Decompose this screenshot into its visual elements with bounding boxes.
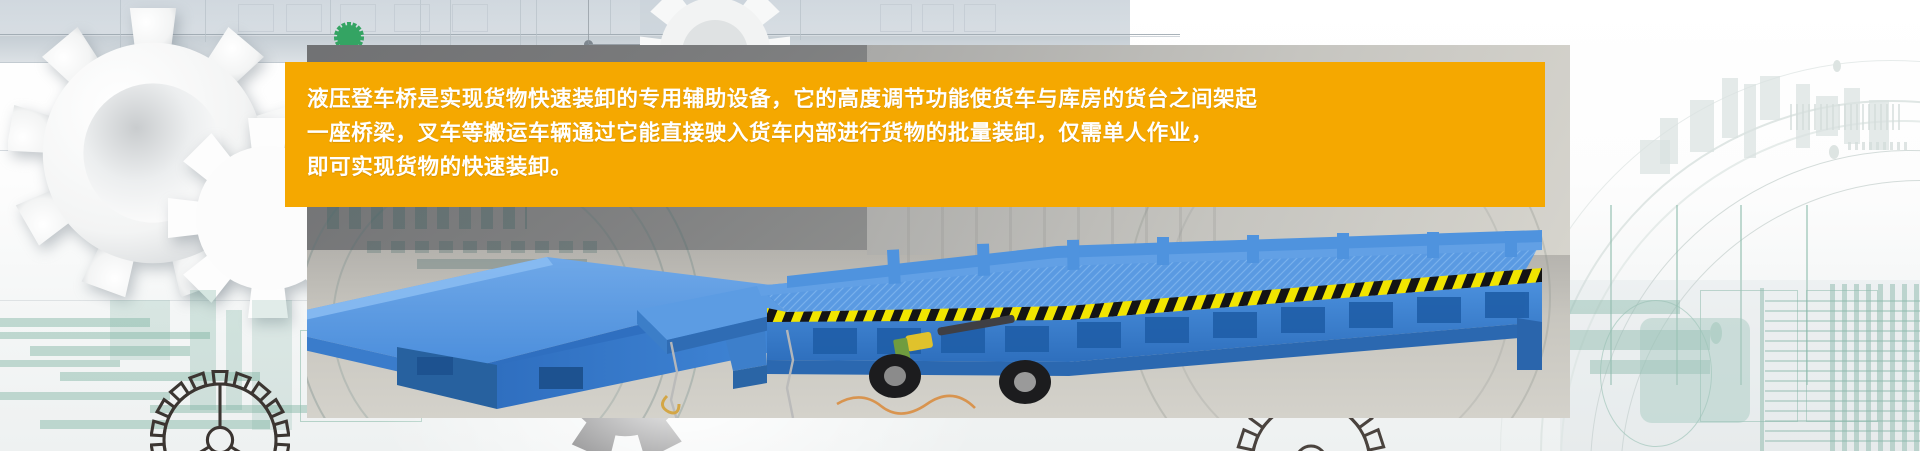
arc-dashes bbox=[1848, 142, 1908, 150]
ramp-wheel bbox=[999, 360, 1051, 404]
background-box bbox=[922, 4, 954, 32]
hydraulic-hose bbox=[837, 396, 975, 414]
background-connector bbox=[588, 0, 589, 44]
yard-ramp-graphic bbox=[637, 190, 1570, 418]
description-text: 液压登车桥是实现货物快速装卸的专用辅助设备，它的高度调节功能使货车与库房的货台之… bbox=[307, 82, 1517, 184]
ramp-wheel bbox=[869, 354, 921, 398]
description-callout: 液压登车桥是实现货物快速装卸的专用辅助设备，它的高度调节功能使货车与库房的货台之… bbox=[285, 62, 1545, 207]
product-banner: 液压登车桥是实现货物快速装卸的专用辅助设备，它的高度调节功能使货车与库房的货台之… bbox=[0, 0, 1920, 451]
background-vrule bbox=[610, 0, 611, 34]
background-vrule bbox=[800, 0, 801, 40]
description-line-3: 即可实现货物的快速装卸。 bbox=[307, 150, 1517, 184]
gear-icon bbox=[150, 370, 290, 451]
background-vrule bbox=[330, 0, 331, 34]
arc-node bbox=[1833, 60, 1841, 72]
arc-node bbox=[1829, 145, 1839, 159]
background-box bbox=[452, 4, 488, 32]
outline-gear bbox=[150, 370, 290, 451]
arc-comb bbox=[1790, 104, 1900, 130]
background-box bbox=[964, 4, 996, 32]
background-box bbox=[880, 4, 912, 32]
description-line-2: 一座桥梁，叉车等搬运车辆通过它能直接驶入货车内部进行货物的批量装卸，仅需单人作业… bbox=[307, 116, 1517, 150]
description-line-1: 液压登车桥是实现货物快速装卸的专用辅助设备，它的高度调节功能使货车与库房的货台之… bbox=[307, 82, 1517, 116]
background-box bbox=[394, 4, 430, 32]
